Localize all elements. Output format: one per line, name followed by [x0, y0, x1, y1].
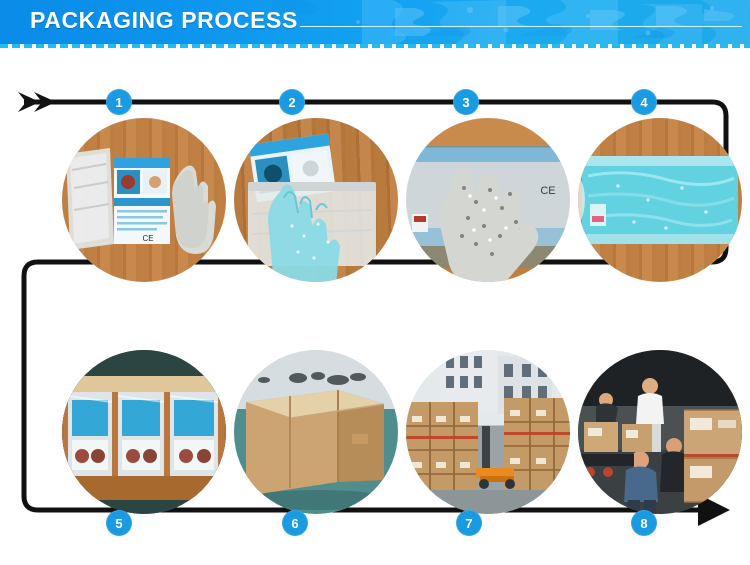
step-7-illustration	[406, 350, 570, 514]
step-badge-1[interactable]: 1	[106, 89, 132, 115]
step-badge-3[interactable]: 3	[453, 89, 479, 115]
step-photo-6	[234, 350, 398, 514]
step-photo-1: CE	[62, 118, 226, 282]
svg-text:CE: CE	[540, 185, 555, 197]
step-photo-3: CE	[406, 118, 570, 282]
step-8-illustration	[578, 350, 742, 514]
step-photo-2	[234, 118, 398, 282]
page-title: PACKAGING PROCESS	[30, 7, 298, 34]
step-1-illustration: CE	[62, 118, 226, 282]
step-badge-4[interactable]: 4	[631, 89, 657, 115]
step-badge-2[interactable]: 2	[279, 89, 305, 115]
step-2-illustration	[234, 118, 398, 282]
step-6-illustration	[234, 350, 398, 514]
step-badge-6[interactable]: 6	[282, 510, 308, 536]
packaging-process-infographic: PACKAGING PROCESS	[0, 0, 750, 565]
step-badge-8[interactable]: 8	[631, 510, 657, 536]
title-rule	[300, 26, 742, 27]
step-5-illustration	[62, 350, 226, 514]
step-photo-7	[406, 350, 570, 514]
svg-text:CE: CE	[142, 234, 153, 243]
step-4-illustration	[578, 118, 742, 282]
step-photo-4	[578, 118, 742, 282]
header-banner: PACKAGING PROCESS	[0, 0, 750, 44]
step-badge-5[interactable]: 5	[106, 510, 132, 536]
step-photo-8	[578, 350, 742, 514]
step-3-illustration: CE	[406, 118, 570, 282]
step-photo-5	[62, 350, 226, 514]
header-dashed-divider	[0, 44, 750, 48]
step-badge-7[interactable]: 7	[456, 510, 482, 536]
flow-start-arrow	[18, 92, 56, 112]
